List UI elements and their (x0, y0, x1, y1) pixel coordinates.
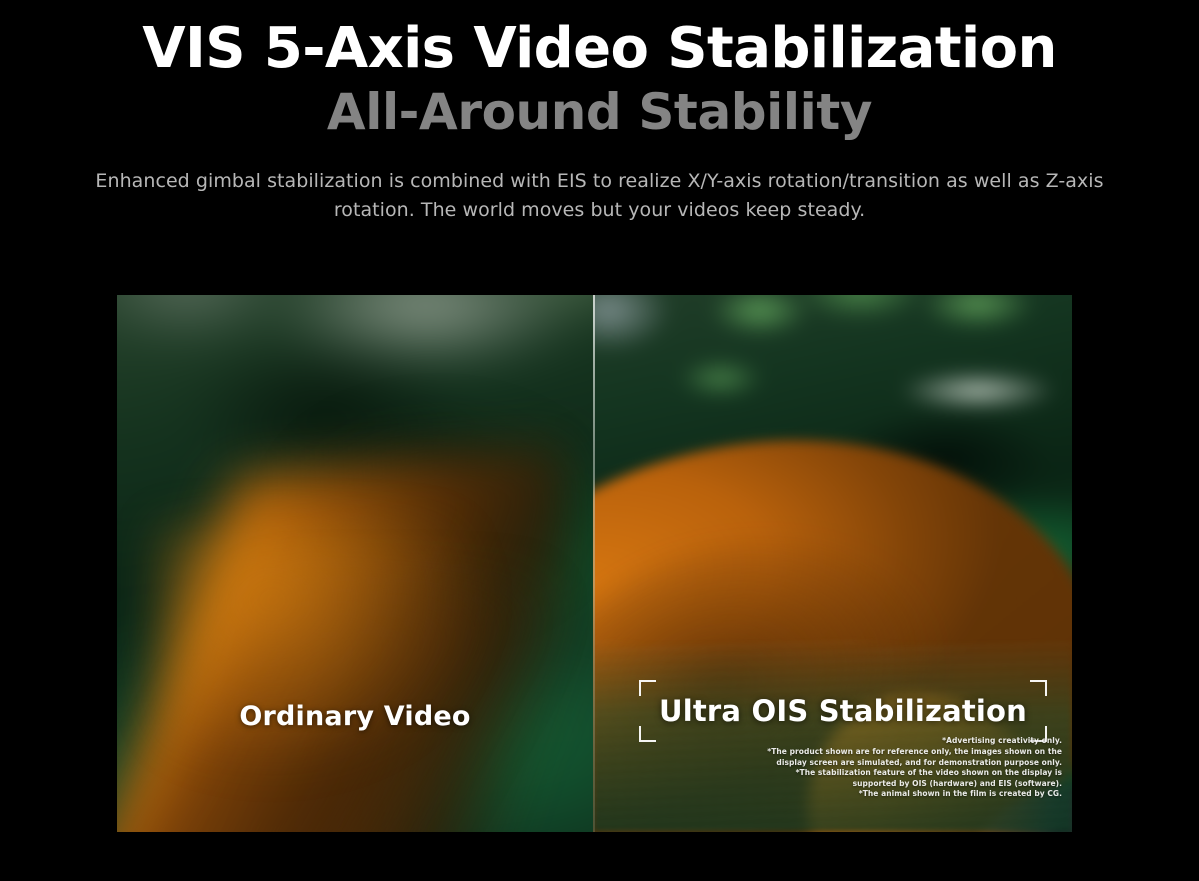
disclaimer-line-4: *The animal shown in the film is created… (762, 789, 1062, 800)
video-comparison-panel: Ordinary Video Ultra OIS Stabilizatio (117, 295, 1072, 832)
ordinary-animal-highlight (157, 525, 487, 775)
disclaimer-line-3: *The stabilization feature of the video … (762, 768, 1062, 789)
stabilized-video-pane: Ultra OIS Stabilization *Advertising cre… (593, 295, 1072, 832)
headline-block: VIS 5-Axis Video Stabilization All-Aroun… (0, 0, 1199, 225)
page-subtitle: All-Around Stability (0, 83, 1199, 141)
ordinary-video-pane: Ordinary Video (117, 295, 593, 832)
promo-page: VIS 5-Axis Video Stabilization All-Aroun… (0, 0, 1199, 881)
disclaimer-line-1: *Advertising creativity only. (762, 736, 1062, 747)
disclaimer-line-2: *The product shown are for reference onl… (762, 747, 1062, 768)
disclaimer-text: *Advertising creativity only. *The produ… (762, 736, 1062, 800)
comparison-divider (593, 295, 595, 832)
ordinary-video-label: Ordinary Video (117, 700, 593, 734)
description-text: Enhanced gimbal stabilization is combine… (65, 167, 1135, 225)
ordinary-video-scene (117, 295, 593, 832)
page-title: VIS 5-Axis Video Stabilization (0, 17, 1199, 81)
stabilized-label-frame: Ultra OIS Stabilization (639, 680, 1047, 742)
stabilized-video-label: Ultra OIS Stabilization (639, 693, 1047, 729)
